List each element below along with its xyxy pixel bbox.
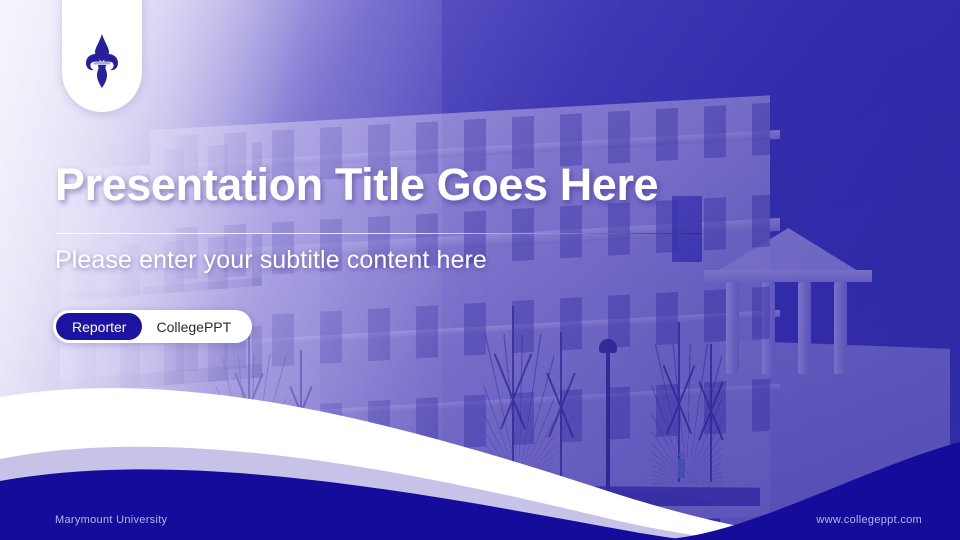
page-title: Presentation Title Goes Here: [55, 160, 658, 210]
footer-website-url: www.collegeppt.com: [816, 514, 922, 526]
slide-subtitle: Please enter your subtitle content here: [55, 246, 487, 275]
slide-content: Presentation Title Goes Here Please ente…: [0, 0, 960, 540]
presentation-slide: Presentation Title Goes Here Please ente…: [0, 0, 960, 540]
title-divider: [56, 233, 701, 234]
reporter-label: Reporter: [56, 313, 142, 340]
reporter-name: CollegePPT: [142, 313, 249, 340]
reporter-pill[interactable]: Reporter CollegePPT: [53, 310, 252, 343]
footer-university-name: Marymount University: [55, 514, 167, 526]
